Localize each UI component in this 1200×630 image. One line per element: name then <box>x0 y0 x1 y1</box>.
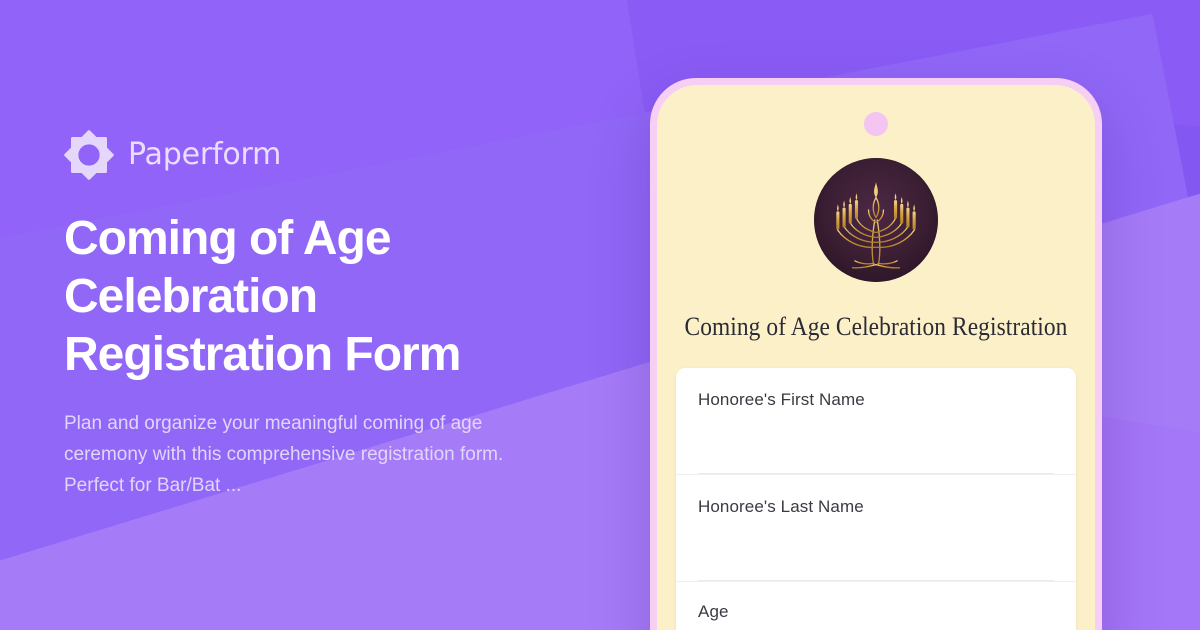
hero-content: Paperform Coming of Age Celebration Regi… <box>64 0 624 630</box>
honoree-first-name-input[interactable] <box>698 414 1054 474</box>
form-title: Coming of Age Celebration Registration <box>679 312 1073 342</box>
paperform-star-logo-icon <box>64 130 114 180</box>
page-description: Plan and organize your meaningful coming… <box>64 408 564 501</box>
honoree-last-name-input[interactable] <box>698 521 1054 581</box>
menorah-tree-logo-icon <box>814 158 938 282</box>
camera-dot-icon <box>864 112 888 136</box>
phone-mockup: Coming of Age Celebration Registration H… <box>650 78 1102 630</box>
age-input[interactable] <box>698 626 1054 630</box>
brand-name: Paperform <box>128 137 281 172</box>
form-field-age[interactable]: Age <box>676 582 1076 630</box>
brand-lockup: Paperform <box>64 130 624 180</box>
promo-banner: Paperform Coming of Age Celebration Regi… <box>0 0 1200 630</box>
field-label: Age <box>698 602 1054 622</box>
field-label: Honoree's Last Name <box>698 497 1054 517</box>
form-field-honoree-first-name[interactable]: Honoree's First Name <box>676 368 1076 475</box>
form-field-honoree-last-name[interactable]: Honoree's Last Name <box>676 475 1076 582</box>
page-title: Coming of Age Celebration Registration F… <box>64 210 534 384</box>
form-card: Honoree's First Name Honoree's Last Name… <box>676 368 1076 630</box>
field-label: Honoree's First Name <box>698 390 1054 410</box>
phone-screen: Coming of Age Celebration Registration H… <box>657 85 1095 630</box>
